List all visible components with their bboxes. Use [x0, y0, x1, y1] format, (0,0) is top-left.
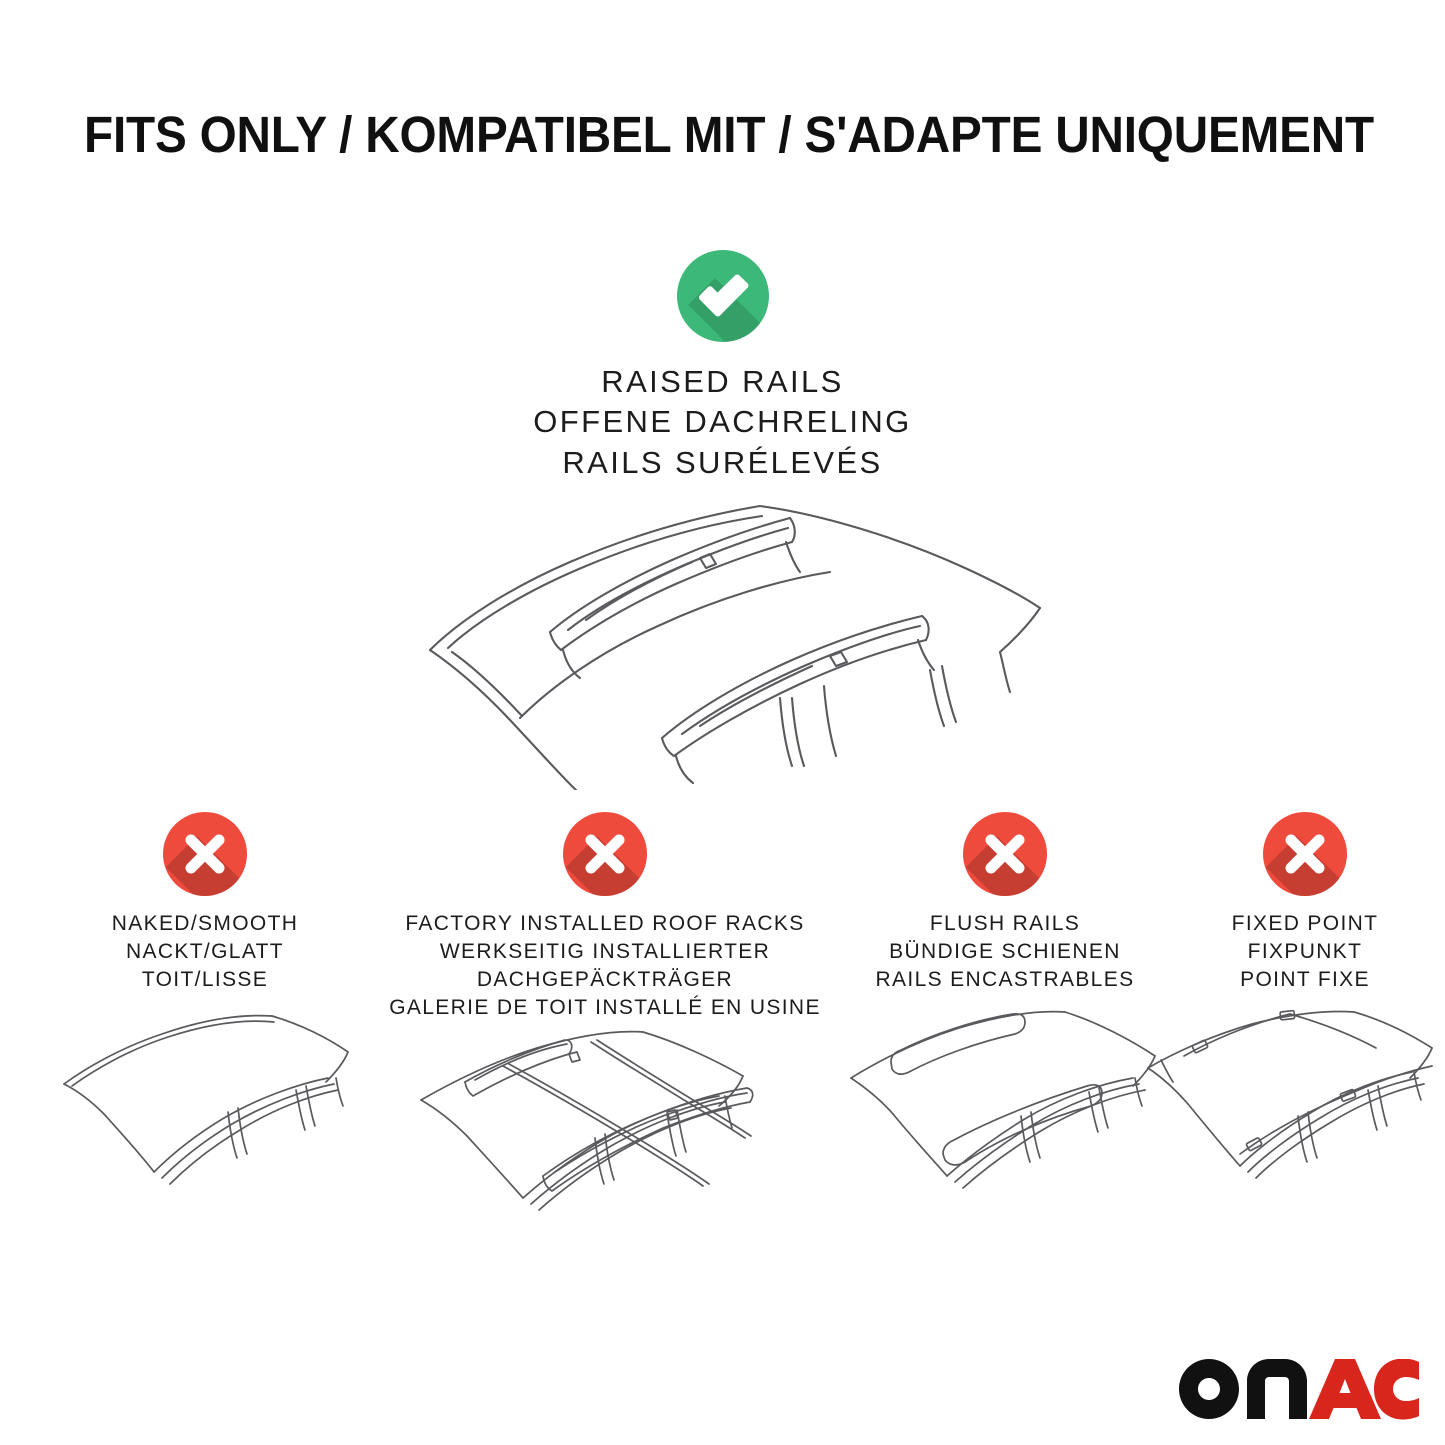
label-line: GALERIE DE TOIT INSTALLÉ EN USINE: [375, 994, 835, 1022]
x-glyph: [163, 812, 247, 896]
check-glyph: [677, 250, 769, 342]
incompatible-item-flush-rails: FLUSH RAILS BÜNDIGE SCHIENEN RAILS ENCAS…: [835, 812, 1175, 1211]
label-line: BÜNDIGE SCHIENEN: [835, 938, 1175, 966]
x-glyph: [1263, 812, 1347, 896]
label-line: FACTORY INSTALLED ROOF RACKS: [375, 910, 835, 938]
incompatible-section: NAKED/SMOOTH NACKT/GLATT TOIT/LISSE: [0, 812, 1445, 1232]
omac-logo-mark: [1179, 1359, 1419, 1421]
fitment-infographic: FITS ONLY / KOMPATIBEL MIT / S'ADAPTE UN…: [0, 0, 1445, 1445]
page-title: FITS ONLY / KOMPATIBEL MIT / S'ADAPTE UN…: [84, 108, 1290, 162]
incompatible-labels-fixed-point: FIXED POINT FIXPUNKT POINT FIXE: [1180, 910, 1430, 994]
x-glyph: [563, 812, 647, 896]
compatible-section: RAISED RAILS OFFENE DACHRELING RAILS SUR…: [0, 250, 1445, 483]
compatible-label-fr: RAILS SURÉLEVÉS: [0, 443, 1445, 483]
car-roof-flush-rails-drawing: [835, 1006, 1175, 1211]
incompatible-item-naked-smooth: NAKED/SMOOTH NACKT/GLATT TOIT/LISSE: [50, 812, 360, 1211]
car-roof-factory-racks-drawing: [375, 1026, 835, 1241]
label-line: NACKT/GLATT: [50, 938, 360, 966]
incompatible-labels-flush-rails: FLUSH RAILS BÜNDIGE SCHIENEN RAILS ENCAS…: [835, 910, 1175, 994]
car-roof-naked-smooth-drawing: [50, 1006, 360, 1211]
label-line: RAILS ENCASTRABLES: [835, 966, 1175, 994]
incompatible-item-factory-racks: FACTORY INSTALLED ROOF RACKS WERKSEITIG …: [375, 812, 835, 1241]
car-roof-raised-rails-drawing: [400, 480, 1050, 790]
label-line: FIXPUNKT: [1180, 938, 1430, 966]
label-line: FLUSH RAILS: [835, 910, 1175, 938]
label-line: DACHGEPÄCKTRÄGER: [375, 966, 835, 994]
car-roof-fixed-point-drawing: [1140, 1006, 1430, 1211]
incompatible-labels-naked-smooth: NAKED/SMOOTH NACKT/GLATT TOIT/LISSE: [50, 910, 360, 994]
check-circle-icon: [677, 250, 769, 342]
x-circle-icon: [163, 812, 247, 896]
compatible-labels: RAISED RAILS OFFENE DACHRELING RAILS SUR…: [0, 362, 1445, 483]
x-circle-icon: [563, 812, 647, 896]
compatible-label-de: OFFENE DACHRELING: [0, 402, 1445, 442]
incompatible-labels-factory-racks: FACTORY INSTALLED ROOF RACKS WERKSEITIG …: [375, 910, 835, 1022]
omac-logo: OMAC: [1179, 1359, 1419, 1421]
x-glyph: [963, 812, 1047, 896]
compatible-label-en: RAISED RAILS: [0, 362, 1445, 402]
label-line: POINT FIXE: [1180, 966, 1430, 994]
incompatible-item-fixed-point: FIXED POINT FIXPUNKT POINT FIXE: [1180, 812, 1430, 1211]
label-line: WERKSEITIG INSTALLIERTER: [375, 938, 835, 966]
x-circle-icon: [963, 812, 1047, 896]
x-circle-icon: [1263, 812, 1347, 896]
label-line: NAKED/SMOOTH: [50, 910, 360, 938]
label-line: FIXED POINT: [1180, 910, 1430, 938]
label-line: TOIT/LISSE: [50, 966, 360, 994]
